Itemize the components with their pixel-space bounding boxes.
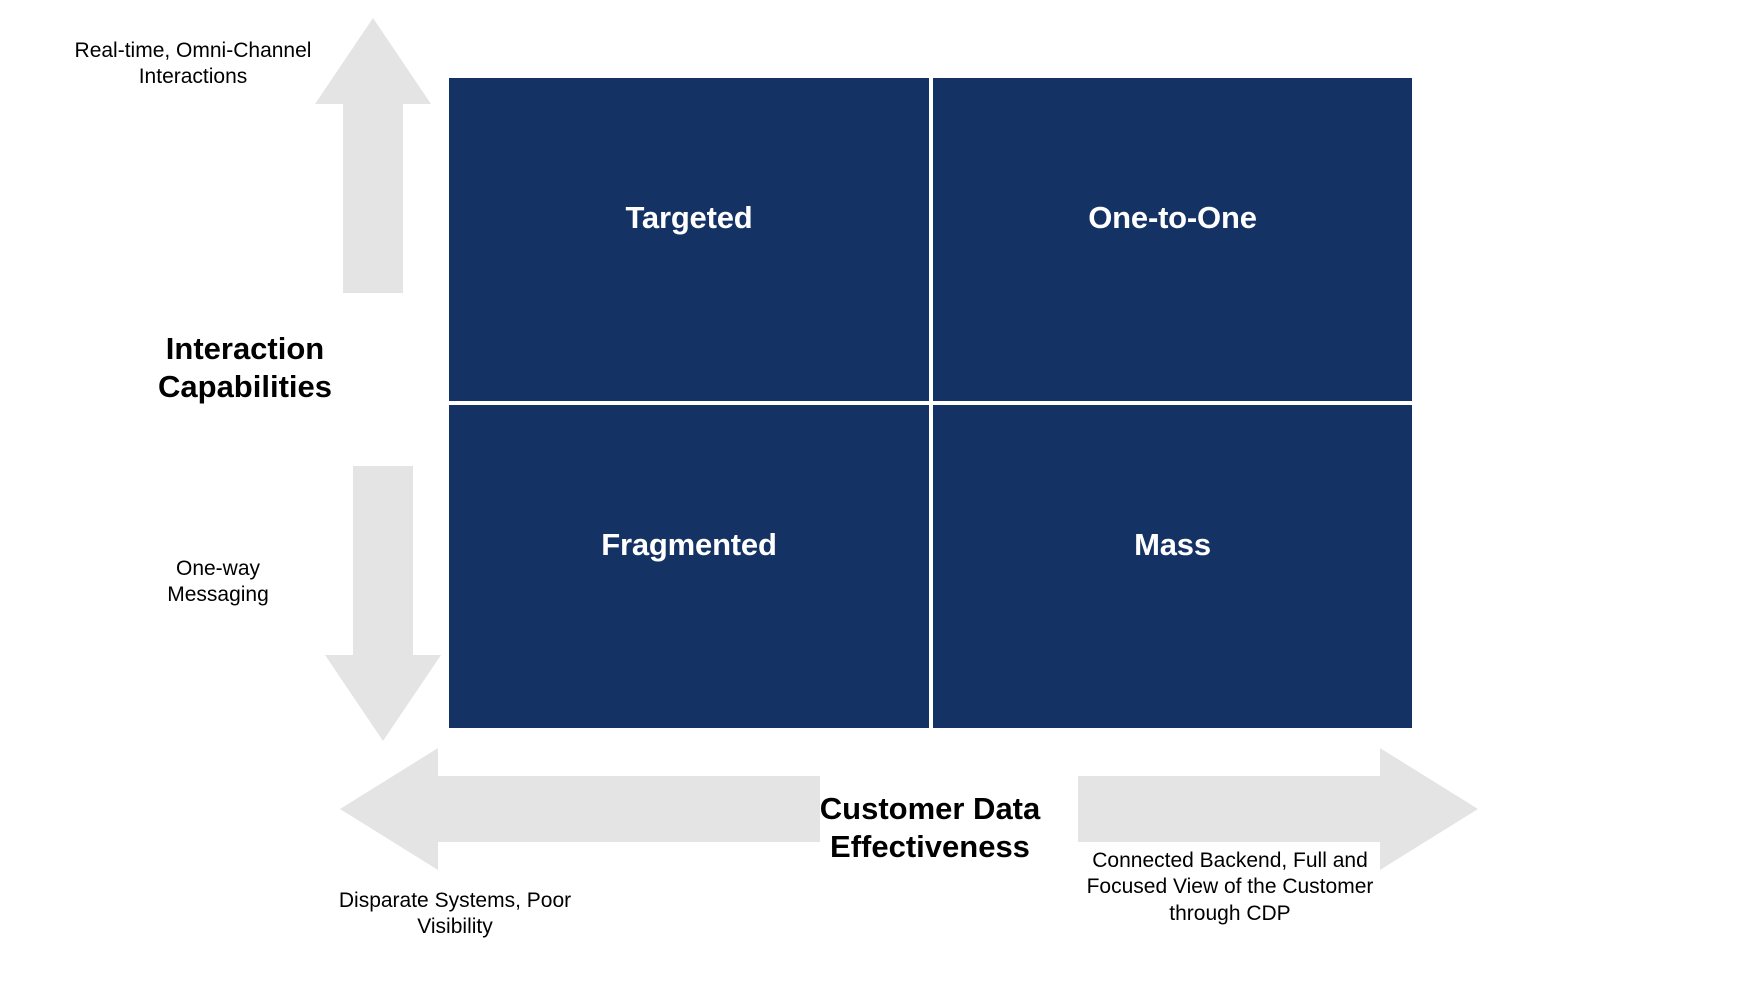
x-axis-title: Customer Data Effectiveness bbox=[790, 790, 1070, 866]
quadrant-fragmented[interactable]: Fragmented bbox=[449, 405, 929, 728]
y-axis-title: Interaction Capabilities bbox=[115, 330, 375, 406]
x-axis-low-label: Disparate Systems, Poor Visibility bbox=[315, 888, 595, 941]
arrow-down-icon bbox=[323, 466, 443, 741]
arrow-up-icon bbox=[313, 18, 433, 293]
x-axis-high-label: Connected Backend, Full and Focused View… bbox=[1060, 848, 1400, 927]
quadrant-fragmented-label: Fragmented bbox=[601, 527, 776, 563]
y-axis-title-line2: Capabilities bbox=[115, 368, 375, 406]
y-axis-low-label: One-way Messaging bbox=[128, 556, 308, 609]
quadrant-mass[interactable]: Mass bbox=[933, 405, 1412, 728]
y-axis-title-line1: Interaction bbox=[115, 330, 375, 368]
x-axis-title-line1: Customer Data bbox=[790, 790, 1070, 828]
quadrant-targeted[interactable]: Targeted bbox=[449, 78, 929, 401]
x-axis-title-line2: Effectiveness bbox=[790, 828, 1070, 866]
quadrant-one-to-one[interactable]: One-to-One bbox=[933, 78, 1412, 401]
diagram-canvas: Real-time, Omni-Channel Interactions Int… bbox=[0, 0, 1738, 984]
quadrant-targeted-label: Targeted bbox=[625, 200, 752, 236]
quadrant-matrix: Targeted One-to-One Fragmented Mass bbox=[449, 78, 1412, 728]
quadrant-one-to-one-label: One-to-One bbox=[1088, 200, 1257, 236]
quadrant-mass-label: Mass bbox=[1134, 527, 1211, 563]
y-axis-high-label: Real-time, Omni-Channel Interactions bbox=[48, 38, 338, 91]
arrow-left-icon bbox=[340, 748, 820, 870]
